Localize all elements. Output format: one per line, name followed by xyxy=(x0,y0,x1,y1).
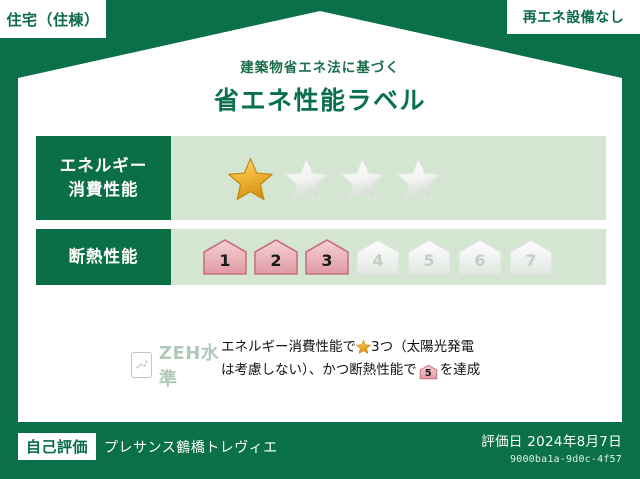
zeh-desc-part1: エネルギー消費性能で xyxy=(221,339,356,355)
zeh-description: エネルギー消費性能で3つ（太陽光発電 は考慮しない）、かつ断熱性能で5を達成 xyxy=(221,332,480,382)
row-label-energy-line1: エネルギー xyxy=(60,154,148,178)
inline-star-icon xyxy=(356,339,371,354)
building-name: プレサンス鶴橋トレヴィエ xyxy=(104,437,278,457)
performance-rows: エネルギー 消費性能 xyxy=(36,136,606,294)
insulation-level-7: 7 xyxy=(507,237,555,277)
zeh-mark: ZEH水準 xyxy=(36,332,221,391)
energy-label-card: 住宅（住棟） 再エネ設備なし 建築物省エネ法に基づく 省エネ性能ラベル エネルギ… xyxy=(0,0,640,479)
evaluation-id: 9000ba1a-9d0c-4f57 xyxy=(481,454,622,465)
insulation-level-3-value: 3 xyxy=(321,251,332,277)
row-label-energy-line2: 消費性能 xyxy=(69,178,139,202)
title-main: 省エネ性能ラベル xyxy=(0,81,640,117)
insulation-level-6: 6 xyxy=(456,237,504,277)
insulation-level-4: 4 xyxy=(354,237,402,277)
self-evaluation-badge: 自己評価 xyxy=(18,433,96,460)
row-label-insulation: 断熱性能 xyxy=(36,229,171,285)
footer-right: 評価日 2024年8月7日 9000ba1a-9d0c-4f57 xyxy=(481,430,622,465)
star-icon-empty-2 xyxy=(283,156,330,201)
star-icon-empty-4 xyxy=(395,156,442,201)
title-subtitle: 建築物省エネ法に基づく xyxy=(0,56,640,76)
row-insulation-performance: 断熱性能 1 xyxy=(36,229,606,285)
insulation-level-1-value: 1 xyxy=(219,251,230,277)
insulation-level-3: 3 xyxy=(303,237,351,277)
evaluation-date: 評価日 2024年8月7日 xyxy=(481,430,622,450)
insulation-level-5: 5 xyxy=(405,237,453,277)
insulation-level-5-value: 5 xyxy=(423,251,434,277)
insulation-level-7-value: 7 xyxy=(525,251,536,277)
zeh-section: ZEH水準 エネルギー消費性能で3つ（太陽光発電 は考慮しない）、かつ断熱性能で… xyxy=(36,332,606,391)
inline-insulation-value: 5 xyxy=(419,364,438,383)
insulation-level-2: 2 xyxy=(252,237,300,277)
row-body-energy xyxy=(171,136,606,220)
tag-renewable-energy: 再エネ設備なし xyxy=(507,0,640,34)
insulation-level-4-value: 4 xyxy=(372,251,383,277)
zeh-desc-part2: は考慮しない）、かつ断熱性能で xyxy=(221,362,417,378)
insulation-level-1: 1 xyxy=(201,237,249,277)
row-label-insulation-line1: 断熱性能 xyxy=(69,245,139,269)
zeh-chart-icon xyxy=(131,352,152,378)
row-label-energy: エネルギー 消費性能 xyxy=(36,136,171,220)
zeh-desc-star-count: 3つ（太陽光発電 xyxy=(371,339,474,355)
row-energy-performance: エネルギー 消費性能 xyxy=(36,136,606,220)
inline-insulation-badge: 5 xyxy=(419,364,438,380)
insulation-level-scale: 1 2 3 xyxy=(171,237,555,277)
footer-left: 自己評価 プレサンス鶴橋トレヴィエ xyxy=(18,433,278,460)
label-title: 建築物省エネ法に基づく 省エネ性能ラベル xyxy=(0,56,640,117)
star-icon-filled-1 xyxy=(227,156,274,201)
star-icon-empty-3 xyxy=(339,156,386,201)
zeh-mark-label: ZEH水準 xyxy=(159,339,221,391)
star-rating xyxy=(171,156,442,201)
zeh-desc-part3: を達成 xyxy=(440,362,481,378)
row-body-insulation: 1 2 3 xyxy=(171,229,606,285)
tag-building-type: 住宅（住棟） xyxy=(0,0,106,38)
insulation-level-2-value: 2 xyxy=(270,251,281,277)
insulation-level-6-value: 6 xyxy=(474,251,485,277)
label-footer: 自己評価 プレサンス鶴橋トレヴィエ 評価日 2024年8月7日 9000ba1a… xyxy=(0,422,640,479)
